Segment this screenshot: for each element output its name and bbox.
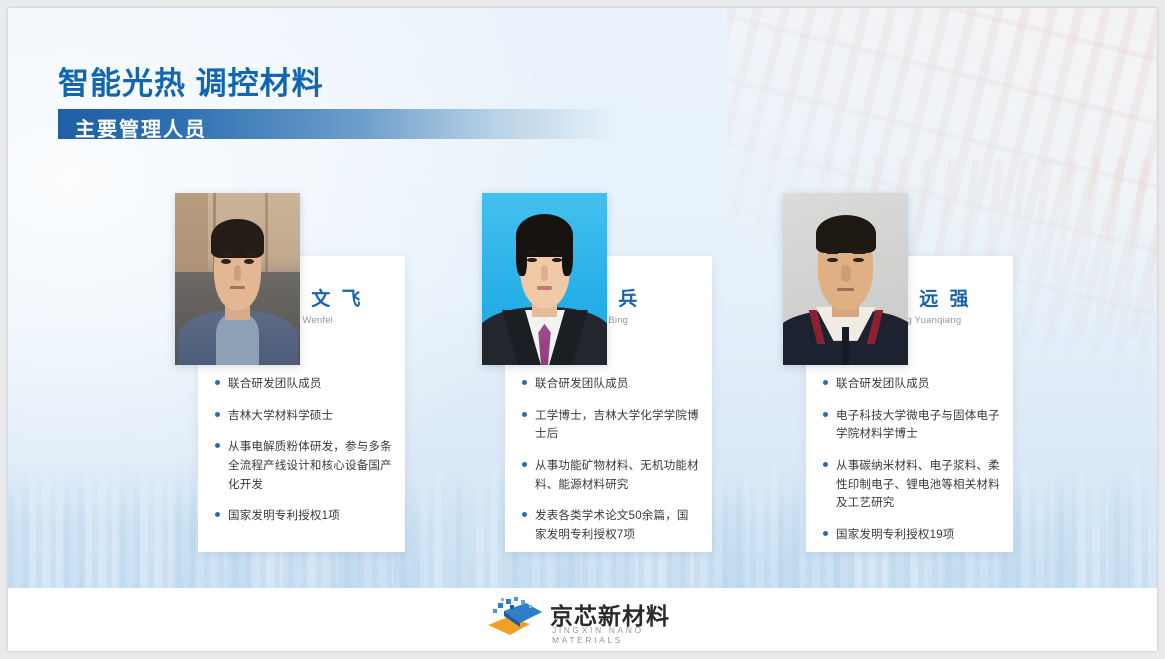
section-heading-bar: 主要管理人员: [58, 109, 618, 139]
list-item-text: 联合研发团队成员: [228, 378, 322, 390]
bullet-dot-icon: [215, 412, 220, 417]
list-item-text: 从事电解质粉体研发，参与多条全流程产线设计和核心设备国产化开发: [228, 441, 392, 490]
bullet-dot-icon: [823, 462, 828, 467]
list-item-text: 工学博士，吉林大学化学学院博士后: [535, 410, 699, 441]
bullet-dot-icon: [823, 531, 828, 536]
list-item-text: 电子科技大学微电子与固体电子学院材料学博士: [836, 410, 1000, 441]
bullet-dot-icon: [215, 380, 220, 385]
bullet-dot-icon: [522, 462, 527, 467]
list-item-text: 从事碳纳米材料、电子浆料、柔性印制电子、锂电池等相关材料及工艺研究: [836, 460, 1000, 509]
list-item: 吉林大学材料学硕士: [214, 406, 393, 425]
bullet-dot-icon: [522, 412, 527, 417]
person-bio-list: 联合研发团队成员 工学博士，吉林大学化学学院博士后 从事功能矿物材料、无机功能材…: [521, 374, 700, 557]
bullet-dot-icon: [215, 512, 220, 517]
list-item-text: 国家发明专利授权19项: [836, 529, 955, 541]
bullet-dot-icon: [522, 512, 527, 517]
list-item-text: 联合研发团队成员: [836, 378, 930, 390]
page-title: 智能光热 调控材料: [58, 58, 324, 103]
list-item-text: 吉林大学材料学硕士: [228, 410, 333, 422]
company-name-en: JINGXIN NANO MATERIALS: [552, 625, 696, 645]
list-item: 国家发明专利授权1项: [214, 506, 393, 525]
list-item-text: 国家发明专利授权1项: [228, 510, 340, 522]
list-item: 联合研发团队成员: [521, 374, 700, 393]
jingxin-pixel-parallelogram-logo-icon: [486, 597, 544, 639]
avatar: [175, 193, 300, 365]
avatar: [482, 193, 607, 365]
list-item: 工学博士，吉林大学化学学院博士后: [521, 406, 700, 443]
person-bio-list: 联合研发团队成员 电子科技大学微电子与固体电子学院材料学博士 从事碳纳米材料、电…: [822, 374, 1001, 557]
list-item-text: 从事功能矿物材料、无机功能材料、能源材料研究: [535, 460, 699, 491]
list-item-text: 联合研发团队成员: [535, 378, 629, 390]
person-bio-list: 联合研发团队成员 吉林大学材料学硕士 从事电解质粉体研发，参与多条全流程产线设计…: [214, 374, 393, 538]
list-item: 国家发明专利授权19项: [822, 525, 1001, 544]
list-item: 从事电解质粉体研发，参与多条全流程产线设计和核心设备国产化开发: [214, 437, 393, 493]
list-item-text: 发表各类学术论文50余篇，国家发明专利授权7项: [535, 510, 689, 541]
bullet-dot-icon: [823, 380, 828, 385]
portrait-image: [482, 193, 607, 365]
list-item: 从事功能矿物材料、无机功能材料、能源材料研究: [521, 456, 700, 493]
list-item: 从事碳纳米材料、电子浆料、柔性印制电子、锂电池等相关材料及工艺研究: [822, 456, 1001, 512]
bullet-dot-icon: [522, 380, 527, 385]
bullet-dot-icon: [215, 443, 220, 448]
list-item: 联合研发团队成员: [822, 374, 1001, 393]
list-item: 电子科技大学微电子与固体电子学院材料学博士: [822, 406, 1001, 443]
company-logo: 京芯新材料 JINGXIN NANO MATERIALS: [486, 595, 696, 639]
portrait-image: [783, 193, 908, 365]
section-heading-label: 主要管理人员: [75, 113, 207, 142]
list-item: 发表各类学术论文50余篇，国家发明专利授权7项: [521, 506, 700, 543]
portrait-image: [175, 193, 300, 365]
bullet-dot-icon: [823, 412, 828, 417]
avatar: [783, 193, 908, 365]
slide: 智能光热 调控材料 主要管理人员 郭 文 飞 Guo Wenfei 联合研发团队…: [8, 8, 1157, 651]
list-item: 联合研发团队成员: [214, 374, 393, 393]
